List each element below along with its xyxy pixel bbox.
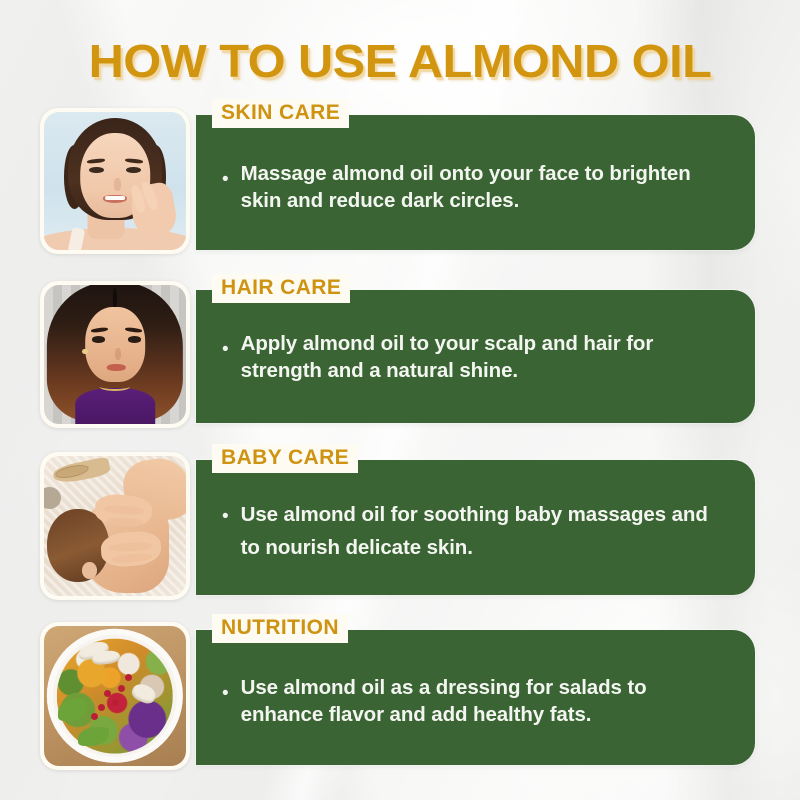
card-baby-care: BABY CARE • Use almond oil for soothing … (196, 460, 755, 595)
card-text-skin-care: Massage almond oil onto your face to bri… (241, 161, 731, 214)
card-label-skin-care: SKIN CARE (212, 99, 349, 128)
card-skin-care: SKIN CARE • Massage almond oil onto your… (196, 115, 755, 250)
baby-care-illustration (44, 456, 186, 596)
card-text-nutrition: Use almond oil as a dressing for salads … (241, 675, 731, 728)
card-body-baby-care: • Use almond oil for soothing baby massa… (222, 498, 731, 564)
bullet-icon: • (222, 507, 229, 526)
baby-care-photo-inner (44, 456, 186, 596)
card-nutrition: NUTRITION • Use almond oil as a dressing… (196, 630, 755, 765)
nutrition-photo-inner (44, 626, 186, 766)
nutrition-photo (40, 622, 190, 770)
card-body-hair-care: • Apply almond oil to your scalp and hai… (222, 331, 731, 384)
infographic-page: HOW TO USE ALMOND OIL SKIN CARE • Massag… (0, 0, 800, 800)
card-text-hair-care: Apply almond oil to your scalp and hair … (241, 331, 731, 384)
hair-care-illustration (44, 285, 186, 424)
card-text-baby-care: Use almond oil for soothing baby massage… (241, 498, 731, 564)
bullet-icon: • (222, 684, 229, 703)
card-label-nutrition: NUTRITION (212, 614, 348, 643)
bullet-icon: • (222, 340, 229, 359)
hair-care-photo-inner (44, 285, 186, 424)
card-body-skin-care: • Massage almond oil onto your face to b… (222, 161, 731, 214)
card-hair-care: HAIR CARE • Apply almond oil to your sca… (196, 290, 755, 423)
card-body-nutrition: • Use almond oil as a dressing for salad… (222, 675, 731, 728)
card-label-baby-care: BABY CARE (212, 444, 358, 473)
nutrition-illustration (44, 626, 186, 766)
skin-care-photo (40, 108, 190, 254)
skin-care-photo-inner (44, 112, 186, 250)
bullet-icon: • (222, 170, 229, 189)
card-label-hair-care: HAIR CARE (212, 274, 350, 303)
skin-care-illustration (44, 112, 186, 250)
hair-care-photo (40, 281, 190, 428)
page-title: HOW TO USE ALMOND OIL (0, 34, 800, 88)
baby-care-photo (40, 452, 190, 600)
